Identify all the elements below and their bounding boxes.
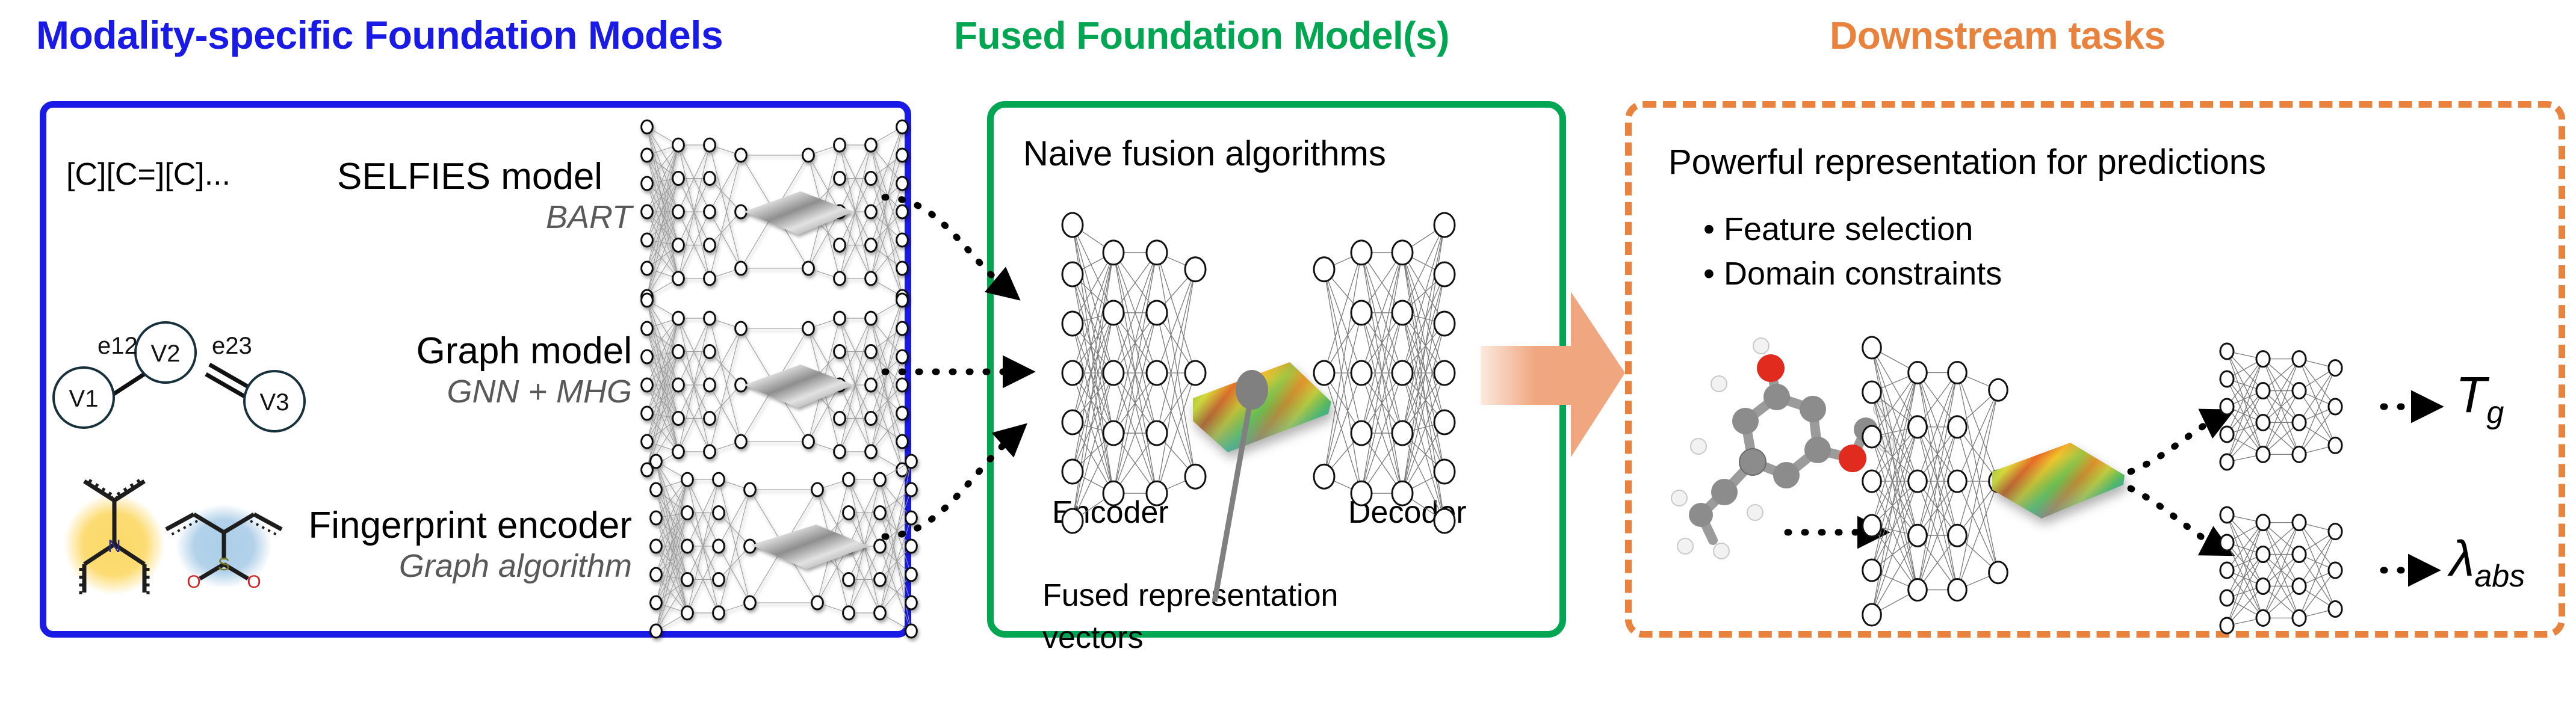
hydrogen-atom xyxy=(1753,338,1769,354)
network-node xyxy=(673,445,684,458)
network-node xyxy=(1062,410,1083,434)
network-node xyxy=(1392,421,1413,445)
network-node xyxy=(2220,371,2234,387)
network-node xyxy=(2220,399,2234,414)
network-node xyxy=(1434,312,1455,336)
hydrogen-atom xyxy=(1677,538,1693,554)
hydrogen-atom xyxy=(1671,490,1687,506)
network-node xyxy=(1863,470,1881,492)
network-node xyxy=(1103,481,1124,505)
network-node xyxy=(865,272,877,285)
network-node xyxy=(673,411,684,425)
network-node xyxy=(865,411,877,425)
network-node xyxy=(1948,525,1967,546)
fingerprint-atom-o2-label: O xyxy=(247,572,261,592)
network-node xyxy=(1948,579,1967,601)
network-node xyxy=(1392,481,1413,505)
network-node xyxy=(642,378,653,392)
network-node xyxy=(1863,337,1881,359)
graph-node-v1-label: V1 xyxy=(69,386,99,412)
network-node xyxy=(642,322,653,335)
network-node xyxy=(673,205,684,218)
network-node xyxy=(906,540,917,553)
diagram-graphics: V1 V2 V3 e12 e23 N xyxy=(0,0,2576,708)
network-node xyxy=(1434,460,1455,484)
network-node xyxy=(2220,590,2234,606)
network-node xyxy=(651,568,662,581)
network-node xyxy=(897,149,908,162)
network-node xyxy=(642,205,653,218)
network-node xyxy=(651,483,662,496)
hydrogen-atom xyxy=(1711,376,1727,392)
network-node xyxy=(704,378,716,392)
network-node xyxy=(803,435,814,448)
network-node xyxy=(713,473,725,486)
network-node xyxy=(673,378,684,392)
network-node xyxy=(682,506,693,520)
network-node xyxy=(1062,509,1083,533)
molecule-3d-model xyxy=(1671,338,1894,559)
network-node xyxy=(2256,414,2270,430)
network-node xyxy=(745,483,756,496)
network-node xyxy=(2329,399,2342,414)
carbon-atom xyxy=(1689,503,1713,527)
network-node xyxy=(834,272,846,285)
network-node xyxy=(906,568,917,581)
network-node xyxy=(642,294,653,307)
carbon-atom xyxy=(1800,396,1826,422)
network-node xyxy=(745,596,756,609)
network-node xyxy=(651,455,662,468)
network-node xyxy=(1863,559,1881,581)
network-node xyxy=(1351,421,1372,445)
network-node xyxy=(1314,257,1334,282)
network-node xyxy=(642,177,653,190)
network-node xyxy=(651,596,662,609)
network-node xyxy=(897,322,908,335)
network-node xyxy=(1062,361,1083,385)
graph-edge-e12-label: e12 xyxy=(98,333,138,359)
network-node xyxy=(2220,618,2234,633)
network-node xyxy=(1434,509,1455,533)
network-node xyxy=(1314,464,1334,488)
network-node xyxy=(704,345,716,359)
network-node xyxy=(834,238,846,251)
network-node xyxy=(1062,460,1083,484)
network-node xyxy=(1185,464,1206,488)
network-node xyxy=(642,262,653,275)
network-node xyxy=(843,573,855,586)
network-node xyxy=(1147,361,1167,385)
network-node xyxy=(2329,601,2342,617)
network-node xyxy=(2220,454,2234,470)
network-node xyxy=(2256,515,2270,531)
network-node xyxy=(745,540,756,553)
fusion-encoder-network xyxy=(1062,213,1206,533)
network-node xyxy=(1314,361,1334,385)
downstream-head-network-lambda xyxy=(2220,507,2342,633)
network-node xyxy=(1434,262,1455,286)
network-node xyxy=(704,411,716,425)
network-node xyxy=(704,238,716,251)
network-node xyxy=(2293,383,2306,399)
network-node xyxy=(2293,515,2306,531)
network-node xyxy=(642,407,653,420)
network-node xyxy=(713,606,725,620)
network-node xyxy=(651,511,662,525)
network-node xyxy=(1351,301,1372,325)
network-node xyxy=(1909,416,1927,438)
network-node xyxy=(642,350,653,363)
network-node xyxy=(875,540,886,553)
connector-fingerprint-to-fusion xyxy=(885,436,1014,537)
carbon-atom xyxy=(1739,449,1766,475)
network-node xyxy=(1948,416,1967,438)
network-node xyxy=(1392,361,1413,385)
network-node xyxy=(1909,525,1927,546)
network-node xyxy=(897,205,908,218)
fingerprint-atom-o1-label: O xyxy=(187,572,200,592)
network-node xyxy=(1103,241,1124,265)
network-node xyxy=(713,540,725,553)
network-node xyxy=(865,238,877,251)
network-node xyxy=(1948,362,1967,383)
network-node xyxy=(897,120,908,134)
network-node xyxy=(682,573,693,586)
network-node xyxy=(843,473,855,486)
network-node xyxy=(875,573,886,586)
network-node xyxy=(642,233,653,247)
network-node xyxy=(865,345,877,359)
network-node xyxy=(2329,562,2342,578)
oxygen-atom xyxy=(1839,445,1866,472)
network-node xyxy=(1351,361,1372,385)
downstream-representation-surface xyxy=(1992,443,2125,519)
connector-surface-to-head-tg xyxy=(2131,417,2218,472)
hydrogen-atom xyxy=(1714,543,1729,559)
carbon-atom xyxy=(1732,408,1759,434)
network-node xyxy=(1351,241,1372,265)
carbon-atom xyxy=(1711,479,1738,505)
graph-node-v2-label: V2 xyxy=(151,340,181,367)
network-node xyxy=(865,378,877,392)
network-node xyxy=(682,473,693,486)
network-node xyxy=(2293,446,2306,462)
network-node xyxy=(834,312,846,325)
network-node xyxy=(897,177,908,190)
network-node xyxy=(897,407,908,420)
network-node xyxy=(2329,437,2342,453)
network-node xyxy=(1863,515,1881,537)
network-node xyxy=(2293,578,2306,594)
network-node xyxy=(704,312,716,325)
network-node xyxy=(897,262,908,275)
network-node xyxy=(2256,446,2270,462)
network-node xyxy=(2220,343,2234,359)
latent-surface-grey-1 xyxy=(744,191,853,235)
network-node xyxy=(1062,262,1083,286)
oxygen-atom xyxy=(1757,354,1785,382)
network-node xyxy=(2256,383,2270,399)
network-node xyxy=(865,445,877,458)
network-node xyxy=(1948,470,1967,492)
network-node xyxy=(642,149,653,162)
network-node xyxy=(651,624,662,638)
network-node xyxy=(897,435,908,448)
network-node xyxy=(673,345,684,359)
network-node xyxy=(704,445,716,458)
network-node xyxy=(1147,421,1167,445)
network-node xyxy=(906,511,917,525)
graph-node-v3-label: V3 xyxy=(260,389,289,416)
network-node xyxy=(1103,301,1124,325)
network-node xyxy=(812,483,823,496)
connector-surface-to-head-lambda xyxy=(2131,488,2218,547)
network-node xyxy=(704,272,716,285)
network-node xyxy=(1147,481,1167,505)
network-node xyxy=(812,596,823,609)
network-node xyxy=(2220,426,2234,442)
hydrogen-atom xyxy=(1691,439,1706,454)
transition-arrow-to-downstream xyxy=(1481,292,1625,457)
network-node xyxy=(906,624,917,638)
network-node xyxy=(2329,360,2342,376)
network-node xyxy=(843,606,855,620)
downstream-head-network-tg xyxy=(2220,343,2342,470)
network-node xyxy=(1434,213,1455,237)
carbon-atom xyxy=(1763,384,1790,410)
network-node xyxy=(2293,547,2306,562)
network-node xyxy=(865,138,877,152)
graph-edge-e23-label: e23 xyxy=(212,333,252,359)
network-node xyxy=(1909,362,1927,383)
network-node xyxy=(1989,562,2008,583)
network-node xyxy=(2256,610,2270,626)
network-node xyxy=(1863,381,1881,403)
network-node xyxy=(834,445,846,458)
network-node xyxy=(803,262,814,275)
network-node xyxy=(834,172,846,185)
network-node xyxy=(906,596,917,609)
network-node xyxy=(735,262,747,275)
network-node xyxy=(1863,604,1881,626)
network-node xyxy=(1351,481,1372,505)
network-node xyxy=(2256,547,2270,562)
network-node xyxy=(865,205,877,218)
network-node xyxy=(1392,241,1413,265)
fingerprint-atom-s-label: S xyxy=(218,555,230,574)
carbon-atom xyxy=(1804,437,1831,463)
network-node xyxy=(673,238,684,251)
network-node xyxy=(834,411,846,425)
latent-surface-grey-2 xyxy=(744,365,853,408)
network-node xyxy=(865,172,877,185)
network-node xyxy=(713,573,725,586)
network-node xyxy=(1185,361,1206,385)
network-node xyxy=(1434,361,1455,385)
network-node xyxy=(651,540,662,553)
network-node xyxy=(834,138,846,152)
network-node xyxy=(1103,361,1124,385)
molecular-graph-illustration: V1 V2 V3 e12 e23 xyxy=(54,322,305,431)
network-node xyxy=(704,205,716,218)
network-node xyxy=(897,233,908,247)
network-node xyxy=(1147,301,1167,325)
network-node xyxy=(803,322,814,335)
network-node xyxy=(2220,507,2234,523)
network-node xyxy=(682,606,693,620)
fusion-decoder-network xyxy=(1314,213,1455,533)
network-node xyxy=(735,149,747,162)
network-node xyxy=(1185,257,1206,282)
network-node xyxy=(2293,414,2306,430)
network-node xyxy=(875,506,886,520)
network-node xyxy=(642,120,653,134)
network-node xyxy=(2220,562,2234,578)
network-node xyxy=(1103,421,1124,445)
network-node xyxy=(834,345,846,359)
latent-surface-grey-3 xyxy=(751,525,869,569)
fingerprint-fragment-yellow-icon: N xyxy=(64,479,165,595)
network-node xyxy=(897,350,908,363)
network-node xyxy=(704,172,716,185)
network-node xyxy=(843,506,855,520)
network-node xyxy=(682,540,693,553)
network-node xyxy=(1062,312,1083,336)
hydrogen-atom xyxy=(1747,505,1763,520)
downstream-representation-network xyxy=(1863,337,2008,626)
network-node xyxy=(735,322,747,335)
network-node xyxy=(673,272,684,285)
network-node xyxy=(1062,213,1083,237)
network-node xyxy=(1989,379,2008,401)
network-node xyxy=(642,435,653,448)
network-node xyxy=(673,138,684,152)
network-node xyxy=(1392,301,1413,325)
network-node xyxy=(803,149,814,162)
network-node xyxy=(1147,241,1167,265)
network-node xyxy=(2256,578,2270,594)
network-node xyxy=(2293,351,2306,367)
network-node xyxy=(1863,426,1881,448)
network-node xyxy=(897,294,908,307)
network-node xyxy=(673,172,684,185)
network-node xyxy=(704,138,716,152)
network-node xyxy=(875,473,886,486)
network-node xyxy=(1909,579,1927,601)
network-node xyxy=(2329,524,2342,540)
network-node xyxy=(897,378,908,392)
network-node xyxy=(875,606,886,620)
network-node xyxy=(735,435,747,448)
carbon-atom xyxy=(1773,462,1800,488)
fingerprint-fragment-blue-icon: S O O xyxy=(166,504,282,592)
network-node xyxy=(1434,410,1455,434)
network-node xyxy=(713,506,725,520)
network-node xyxy=(1909,470,1927,492)
network-node xyxy=(673,312,684,325)
fingerprint-atom-n-label: N xyxy=(108,537,121,556)
network-node xyxy=(865,312,877,325)
network-node xyxy=(906,455,917,468)
network-node xyxy=(2293,610,2306,626)
network-node xyxy=(2256,351,2270,367)
network-node xyxy=(2220,535,2234,550)
network-node xyxy=(906,483,917,496)
